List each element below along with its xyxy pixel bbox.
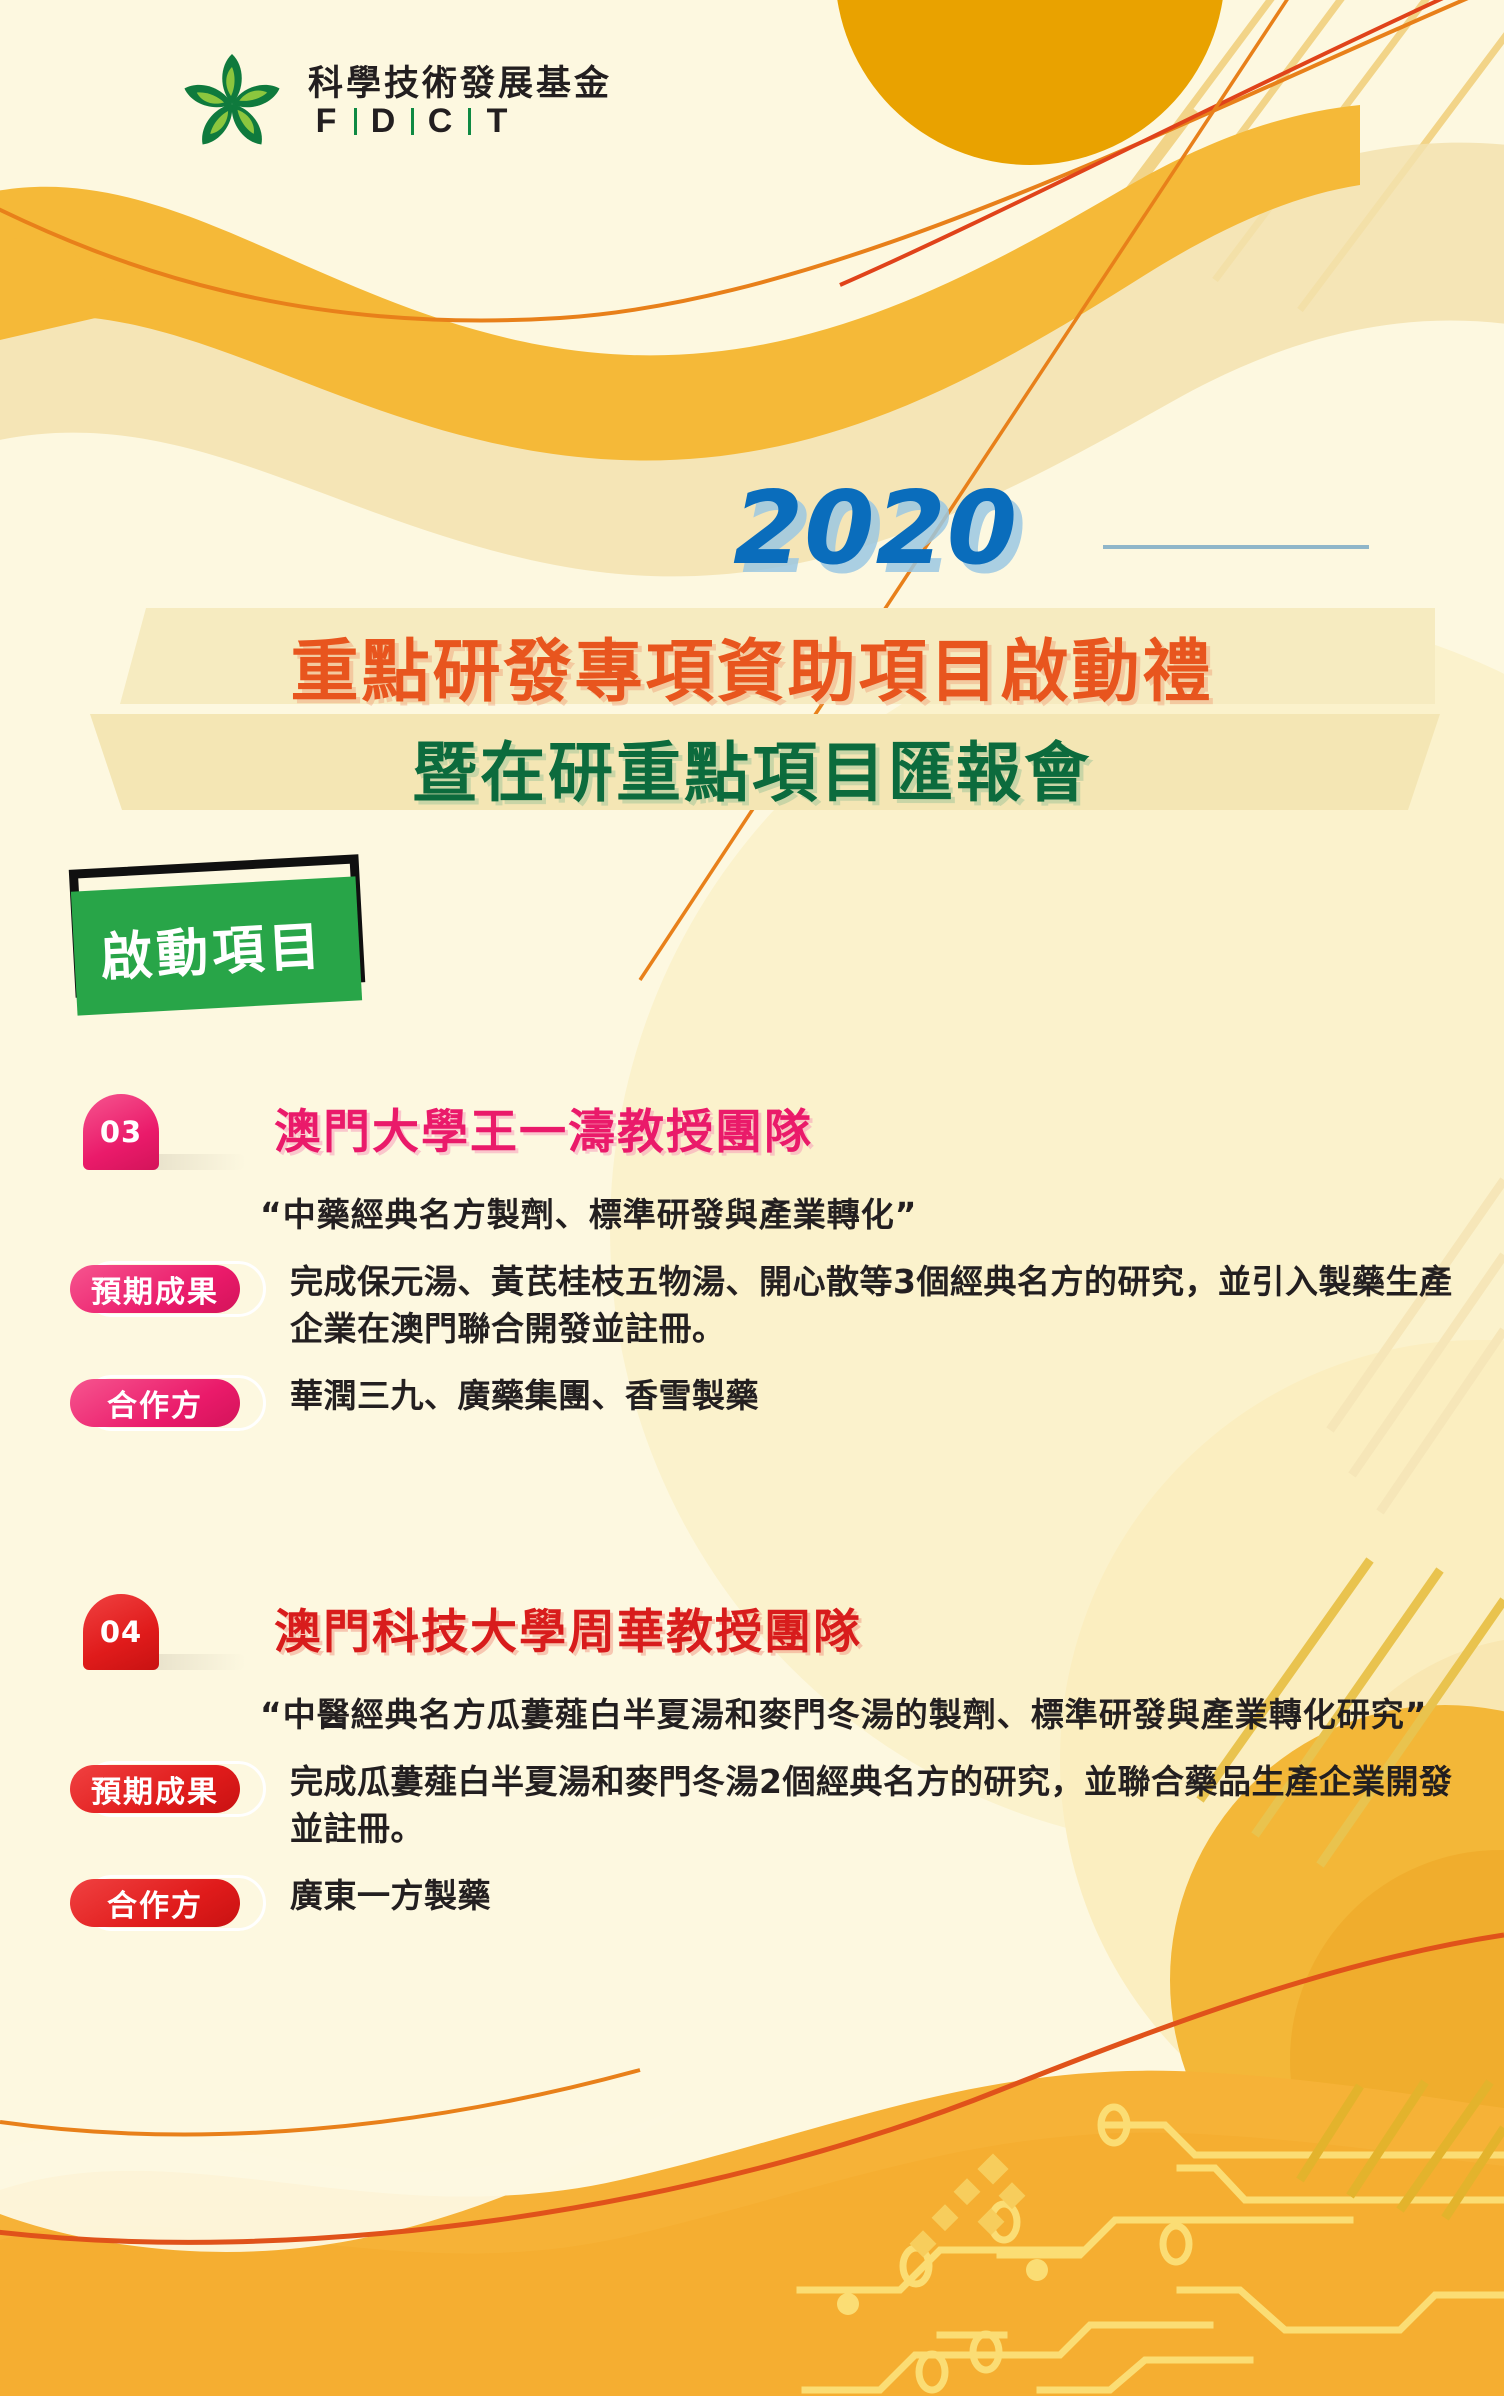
partners-label: 合作方 bbox=[70, 1379, 240, 1427]
logo-letter-c: C bbox=[422, 104, 460, 138]
expected-results-row: 預期成果 完成保元湯、黃芪桂枝五物湯、開心散等3個經典名方的研究，並引入製藥生產… bbox=[0, 1259, 1504, 1353]
bg-circuit-pattern bbox=[800, 2125, 1504, 2390]
partners-label: 合作方 bbox=[70, 1879, 240, 1927]
bg-hatch-top-right bbox=[1105, 0, 1504, 310]
section-tag: 啟動項目 bbox=[62, 862, 412, 1042]
bg-curve-orange-bottom bbox=[0, 2070, 640, 2134]
bg-curve-red-top bbox=[840, 0, 1504, 285]
project-subject-quote: “中藥經典名方製劑、標準研發與產業轉化” bbox=[0, 1192, 1504, 1239]
logo-separator-bar bbox=[468, 108, 471, 135]
bg-left-sliver bbox=[0, 238, 130, 340]
bg-circuit-nodes bbox=[903, 2107, 1189, 2390]
partners-row: 合作方 廣東一方製藥 bbox=[0, 1873, 1504, 1933]
bg-diamond-cluster bbox=[910, 2153, 1026, 2257]
logo-org-name: 科學技術發展基金 bbox=[308, 66, 612, 103]
year-rule-line bbox=[1103, 545, 1369, 549]
fdct-logo: 科學技術發展基金 F D C T bbox=[178, 48, 612, 156]
year-heading: 2020 bbox=[733, 478, 1018, 579]
logo-letter-t: T bbox=[479, 104, 517, 138]
expected-results-pill-wrap: 預期成果 bbox=[70, 1761, 266, 1817]
logo-letter-d: D bbox=[365, 104, 403, 138]
bg-circuit-dots bbox=[837, 2259, 1048, 2315]
expected-results-label: 預期成果 bbox=[70, 1765, 240, 1813]
partners-row: 合作方 華潤三九、廣藥集團、香雪製藥 bbox=[0, 1373, 1504, 1433]
bg-hatch-bottom-right bbox=[1300, 2082, 1504, 2218]
project-block: 03 澳門大學王一濤教授團隊 “中藥經典名方製劑、標準研發與產業轉化” 預期成果… bbox=[0, 1088, 1504, 1433]
project-team-title: 澳門大學王一濤教授團隊 bbox=[274, 1093, 813, 1162]
fdct-flower-logo-icon bbox=[178, 48, 286, 156]
logo-separator-bar bbox=[354, 108, 357, 135]
logo-letter-f: F bbox=[308, 104, 346, 138]
poster-canvas: 科學技術發展基金 F D C T 2020 重點研發專項資助項目啟動禮 暨在研重… bbox=[0, 0, 1504, 2396]
expected-results-label: 預期成果 bbox=[70, 1265, 240, 1313]
project-number-badge: 04 bbox=[83, 1594, 159, 1670]
project-header: 04 澳門科技大學周華教授團隊 bbox=[0, 1588, 1504, 1680]
bg-gold-disc-top bbox=[835, 0, 1225, 165]
bg-bottom-band bbox=[0, 2071, 1504, 2396]
project-number-badge: 03 bbox=[83, 1094, 159, 1170]
partners-pill-wrap: 合作方 bbox=[70, 1375, 266, 1431]
poster-title-line-2: 暨在研重點項目匯報會 bbox=[0, 720, 1504, 814]
logo-abbrev: F D C T bbox=[308, 104, 612, 138]
section-tag-label: 啟動項目 bbox=[81, 876, 372, 1015]
expected-results-row: 預期成果 完成瓜蔞薤白半夏湯和麥門冬湯2個經典名方的研究，並聯合藥品生產企業開發… bbox=[0, 1759, 1504, 1853]
project-header: 03 澳門大學王一濤教授團隊 bbox=[0, 1088, 1504, 1180]
logo-text-block: 科學技術發展基金 F D C T bbox=[308, 66, 612, 139]
project-subject-quote: “中醫經典名方瓜蔞薤白半夏湯和麥門冬湯的製劑、標準研發與產業轉化研究” bbox=[0, 1692, 1504, 1739]
project-block: 04 澳門科技大學周華教授團隊 “中醫經典名方瓜蔞薤白半夏湯和麥門冬湯的製劑、標… bbox=[0, 1588, 1504, 1933]
bg-bottom-band-2 bbox=[0, 2133, 1504, 2396]
project-team-title: 澳門科技大學周華教授團隊 bbox=[274, 1593, 862, 1662]
bg-wave-gold bbox=[0, 105, 1360, 460]
bg-curve-red-bottom bbox=[0, 1935, 1504, 2242]
poster-title-line-1: 重點研發專項資助項目啟動禮 bbox=[0, 616, 1504, 715]
partners-pill-wrap: 合作方 bbox=[70, 1875, 266, 1931]
bg-bottom-cream-swoosh bbox=[0, 2098, 700, 2252]
logo-separator-bar bbox=[411, 108, 414, 135]
expected-results-pill-wrap: 預期成果 bbox=[70, 1261, 266, 1317]
